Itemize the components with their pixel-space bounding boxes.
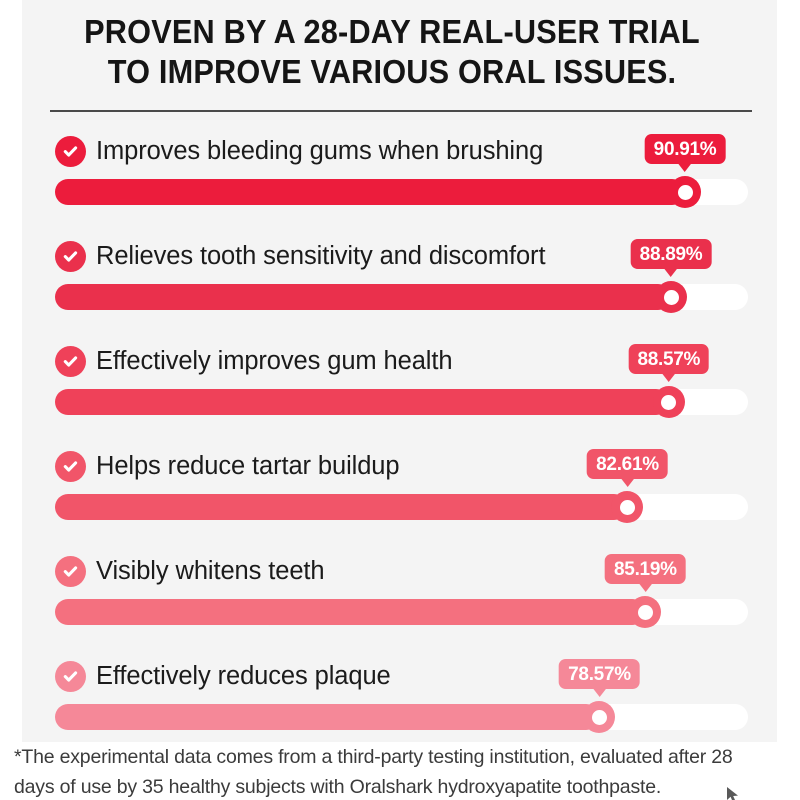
benefit-row-head: Effectively improves gum health [55, 343, 452, 379]
percent-badge: 88.57% [628, 344, 709, 374]
percent-value: 82.61% [596, 455, 659, 474]
percent-value: 88.89% [640, 245, 703, 264]
percent-value: 78.57% [568, 665, 631, 684]
mouse-cursor-icon [726, 786, 742, 800]
progress-fill [55, 389, 669, 415]
benefit-row-head: Relieves tooth sensitivity and discomfor… [55, 238, 545, 274]
benefit-row: Helps reduce tartar buildup82.61% [0, 448, 800, 553]
benefit-label: Helps reduce tartar buildup [96, 451, 399, 482]
percent-value: 85.19% [614, 560, 677, 579]
check-circle-icon [55, 346, 86, 377]
progress-knob-center [638, 605, 653, 620]
percent-value: 88.57% [637, 350, 700, 369]
benefit-row: Visibly whitens teeth85.19% [0, 553, 800, 658]
progress-track[interactable] [55, 704, 748, 730]
progress-knob-center [661, 395, 676, 410]
progress-fill [55, 179, 685, 205]
footnote: *The experimental data comes from a thir… [14, 742, 800, 800]
check-circle-icon [55, 451, 86, 482]
title-line-1: PROVEN BY A 28-DAY REAL-USER TRIAL [48, 12, 736, 52]
title-line-2: TO IMPROVE VARIOUS ORAL ISSUES. [48, 52, 736, 92]
benefit-row: Relieves tooth sensitivity and discomfor… [0, 238, 800, 343]
benefit-row: Effectively improves gum health88.57% [0, 343, 800, 448]
progress-knob[interactable] [655, 281, 687, 313]
check-circle-icon [55, 136, 86, 167]
benefit-row-head: Effectively reduces plaque [55, 658, 391, 694]
progress-track[interactable] [55, 179, 748, 205]
progress-fill [55, 599, 645, 625]
percent-badge: 85.19% [605, 554, 686, 584]
title-divider [50, 110, 752, 112]
check-circle-icon [55, 661, 86, 692]
progress-fill [55, 494, 627, 520]
check-circle-icon [55, 556, 86, 587]
progress-knob[interactable] [629, 596, 661, 628]
progress-knob-center [678, 185, 693, 200]
benefit-row-head: Visibly whitens teeth [55, 553, 324, 589]
progress-knob[interactable] [669, 176, 701, 208]
progress-track[interactable] [55, 494, 748, 520]
progress-fill [55, 284, 671, 310]
percent-badge: 78.57% [559, 659, 640, 689]
progress-fill [55, 704, 599, 730]
page-title: PROVEN BY A 28-DAY REAL-USER TRIAL TO IM… [22, 12, 762, 92]
percent-badge: 90.91% [645, 134, 726, 164]
progress-knob-center [592, 710, 607, 725]
benefit-label: Improves bleeding gums when brushing [96, 136, 543, 167]
benefit-row: Improves bleeding gums when brushing90.9… [0, 133, 800, 238]
check-circle-icon [55, 241, 86, 272]
progress-track[interactable] [55, 389, 748, 415]
percent-badge: 82.61% [587, 449, 668, 479]
percent-badge: 88.89% [631, 239, 712, 269]
progress-knob[interactable] [611, 491, 643, 523]
progress-knob-center [664, 290, 679, 305]
progress-knob-center [620, 500, 635, 515]
benefit-label: Visibly whitens teeth [96, 556, 324, 587]
progress-knob[interactable] [583, 701, 615, 733]
percent-value: 90.91% [654, 140, 717, 159]
footnote-line-1: *The experimental data comes from a thir… [14, 742, 800, 772]
benefit-label: Relieves tooth sensitivity and discomfor… [96, 241, 545, 272]
benefit-label: Effectively improves gum health [96, 346, 452, 377]
benefit-label: Effectively reduces plaque [96, 661, 391, 692]
progress-knob[interactable] [653, 386, 685, 418]
progress-track[interactable] [55, 284, 748, 310]
progress-track[interactable] [55, 599, 748, 625]
infographic-root: PROVEN BY A 28-DAY REAL-USER TRIAL TO IM… [0, 0, 800, 800]
footnote-line-2: days of use by 35 healthy subjects with … [14, 772, 800, 800]
benefit-row-head: Improves bleeding gums when brushing [55, 133, 543, 169]
benefit-row-head: Helps reduce tartar buildup [55, 448, 399, 484]
